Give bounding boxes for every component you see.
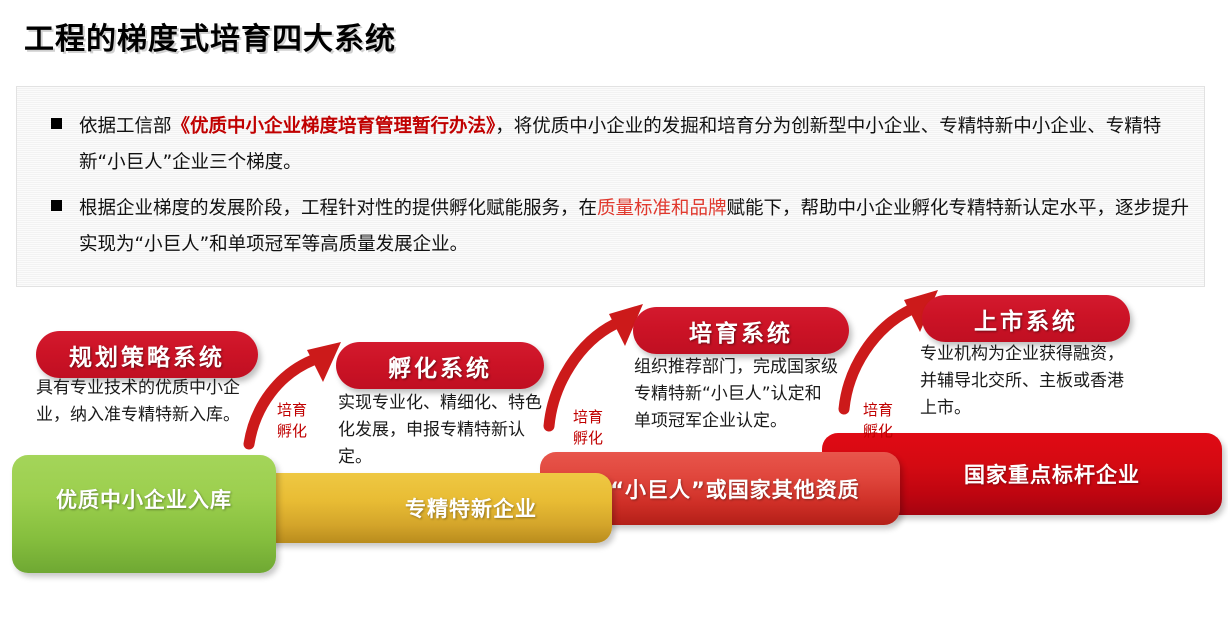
arrow-label-line-2: 孵化 — [568, 428, 608, 449]
bullet-square-icon — [51, 118, 62, 129]
bullet-list: 依据工信部《优质中小企业梯度培育管理暂行办法》，将优质中小企业的发掘和培育分为创… — [43, 109, 1190, 273]
system-badge-cultivation[interactable]: 培育系统 — [633, 307, 849, 354]
stage-bar-label: “小巨人”或国家其他资质 — [610, 474, 860, 504]
system-badge-listing[interactable]: 上市系统 — [922, 295, 1130, 342]
arrow-label-line-1: 培育 — [272, 400, 312, 421]
bullet-2-seg-1: 质量标准和品牌 — [597, 198, 727, 219]
arrow-label-1: 培育 孵化 — [272, 400, 312, 442]
arrow-label-line-1: 培育 — [858, 400, 898, 421]
system-desc-listing: 专业机构为企业获得融资，并辅导北交所、主板或香港上市。 — [920, 341, 1140, 422]
bullet-1-seg-1: 《优质中小企业梯度培育管理暂行办法》 — [172, 116, 496, 137]
page-title: 工程的梯度式培育四大系统 — [24, 14, 396, 58]
system-badge-label: 培育系统 — [689, 314, 793, 348]
slide-root: 工程的梯度式培育四大系统 依据工信部《优质中小企业梯度培育管理暂行办法》，将优质… — [0, 0, 1228, 622]
bullet-text-1: 依据工信部《优质中小企业梯度培育管理暂行办法》，将优质中小企业的发掘和培育分为创… — [79, 109, 1190, 181]
arrow-label-line-1: 培育 — [568, 407, 608, 428]
arrow-label-3: 培育 孵化 — [858, 400, 898, 442]
system-badge-label: 上市系统 — [974, 302, 1078, 336]
system-desc-cultivation: 组织推荐部门，完成国家级专精特新“小巨人”认定和单项冠军企业认定。 — [634, 354, 838, 435]
list-item: 根据企业梯度的发展阶段，工程针对性的提供孵化赋能服务，在质量标准和品牌赋能下，帮… — [43, 191, 1190, 263]
arrow-label-2: 培育 孵化 — [568, 407, 608, 449]
system-badge-label: 规划策略系统 — [69, 338, 225, 372]
stage-bar-label: 国家重点标杆企业 — [964, 459, 1140, 489]
stage-bar-label: 优质中小企业入库 — [56, 484, 232, 514]
bullet-2-seg-0: 根据企业梯度的发展阶段，工程针对性的提供孵化赋能服务，在 — [79, 198, 597, 219]
stage-bar-label: 专精特新企业 — [405, 493, 537, 523]
arrow-label-line-2: 孵化 — [858, 421, 898, 442]
stage-bar-quality-sme-entry[interactable]: 优质中小企业入库 — [12, 455, 276, 573]
bullet-1-seg-0: 依据工信部 — [79, 116, 172, 137]
bullet-square-icon — [51, 200, 62, 211]
system-desc-planning: 具有专业技术的优质中小企业，纳入准专精特新入库。 — [36, 375, 242, 429]
system-badge-incubation[interactable]: 孵化系统 — [336, 342, 544, 389]
system-badge-label: 孵化系统 — [388, 349, 492, 383]
description-panel: 依据工信部《优质中小企业梯度培育管理暂行办法》，将优质中小企业的发掘和培育分为创… — [16, 86, 1205, 287]
system-badge-planning[interactable]: 规划策略系统 — [36, 331, 258, 378]
bullet-text-2: 根据企业梯度的发展阶段，工程针对性的提供孵化赋能服务，在质量标准和品牌赋能下，帮… — [79, 191, 1190, 263]
system-desc-incubation: 实现专业化、精细化、特色化发展，申报专精特新认定。 — [338, 390, 543, 471]
arrow-label-line-2: 孵化 — [272, 421, 312, 442]
list-item: 依据工信部《优质中小企业梯度培育管理暂行办法》，将优质中小企业的发掘和培育分为创… — [43, 109, 1190, 181]
